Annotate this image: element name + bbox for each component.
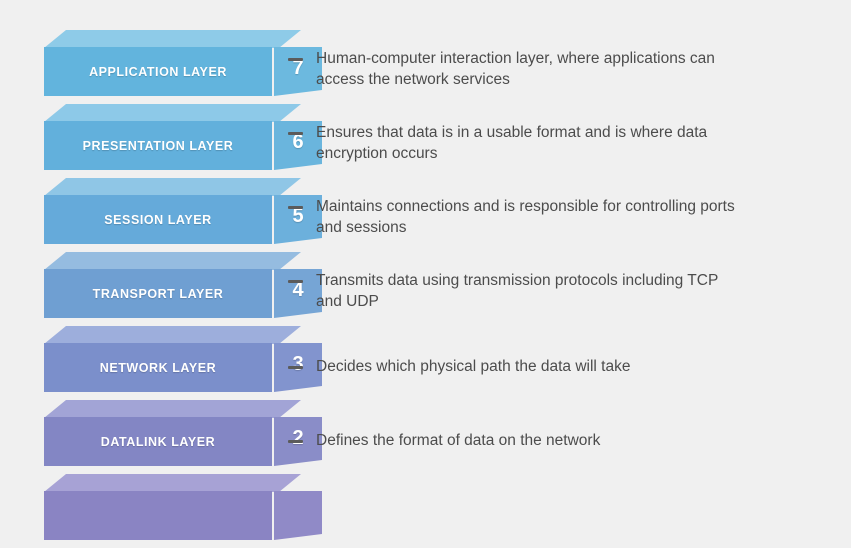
layer-row: PRESENTATION LAYER6Ensures that data is … <box>0 104 851 178</box>
layer-row: SESSION LAYER5Maintains connections and … <box>0 178 851 252</box>
layer-block-top-face <box>36 474 301 492</box>
connector-dash <box>288 440 303 443</box>
layer-block[interactable]: APPLICATION LAYER7 <box>36 30 301 96</box>
osi-model-diagram: APPLICATION LAYER7Human-computer interac… <box>0 0 851 480</box>
layer-description: Human-computer interaction layer, where … <box>316 48 746 90</box>
layer-row: APPLICATION LAYER7Human-computer interac… <box>0 30 851 104</box>
layer-block[interactable]: TRANSPORT LAYER4 <box>36 252 301 318</box>
layer-block-front-face: DATALINK LAYER <box>44 417 272 466</box>
layer-name-label: NETWORK LAYER <box>100 361 216 375</box>
connector-dash <box>288 58 303 61</box>
layer-block-top-face <box>36 252 301 270</box>
layer-block-top-face <box>36 30 301 48</box>
layer-description: Defines the format of data on the networ… <box>316 430 746 451</box>
connector-dash <box>288 206 303 209</box>
layer-description: Transmits data using transmission protoc… <box>316 270 746 312</box>
layer-row: TRANSPORT LAYER4Transmits data using tra… <box>0 252 851 326</box>
layer-description: Ensures that data is in a usable format … <box>316 122 746 164</box>
layer-block-front-face: SESSION LAYER <box>44 195 272 244</box>
layer-description: Decides which physical path the data wil… <box>316 356 746 377</box>
layer-name-label: TRANSPORT LAYER <box>93 287 224 301</box>
layer-block-front-face: PRESENTATION LAYER <box>44 121 272 170</box>
layer-number-panel: 6 <box>274 121 322 170</box>
layer-block-top-face <box>36 400 301 418</box>
layer-block[interactable]: NETWORK LAYER3 <box>36 326 301 392</box>
layer-block[interactable]: PRESENTATION LAYER6 <box>36 104 301 170</box>
layer-block-top-face <box>36 326 301 344</box>
layer-number: 3 <box>292 353 303 376</box>
layer-block[interactable]: SESSION LAYER5 <box>36 178 301 244</box>
layer-block-front-face <box>44 491 272 540</box>
layer-number-panel: 5 <box>274 195 322 244</box>
layer-block-front-face: APPLICATION LAYER <box>44 47 272 96</box>
layer-number-panel: 4 <box>274 269 322 318</box>
layer-block[interactable]: DATALINK LAYER2 <box>36 400 301 466</box>
layer-name-label: PRESENTATION LAYER <box>83 139 234 153</box>
connector-dash <box>288 132 303 135</box>
layer-number: 2 <box>292 427 303 450</box>
layer-description: Maintains connections and is responsible… <box>316 196 746 238</box>
layer-block-top-face <box>36 178 301 196</box>
layer-row: NETWORK LAYER3Decides which physical pat… <box>0 326 851 400</box>
layer-number-panel <box>274 491 322 540</box>
layer-block[interactable] <box>36 474 301 540</box>
layer-name-label: APPLICATION LAYER <box>89 65 227 79</box>
layer-row: DATALINK LAYER2Defines the format of dat… <box>0 400 851 474</box>
layer-name-label: DATALINK LAYER <box>101 435 215 449</box>
layer-block-top-face <box>36 104 301 122</box>
connector-dash <box>288 366 303 369</box>
layer-row <box>0 474 851 548</box>
connector-dash <box>288 280 303 283</box>
layer-block-front-face: NETWORK LAYER <box>44 343 272 392</box>
layer-name-label: SESSION LAYER <box>104 213 211 227</box>
layer-number-panel: 7 <box>274 47 322 96</box>
layer-block-front-face: TRANSPORT LAYER <box>44 269 272 318</box>
